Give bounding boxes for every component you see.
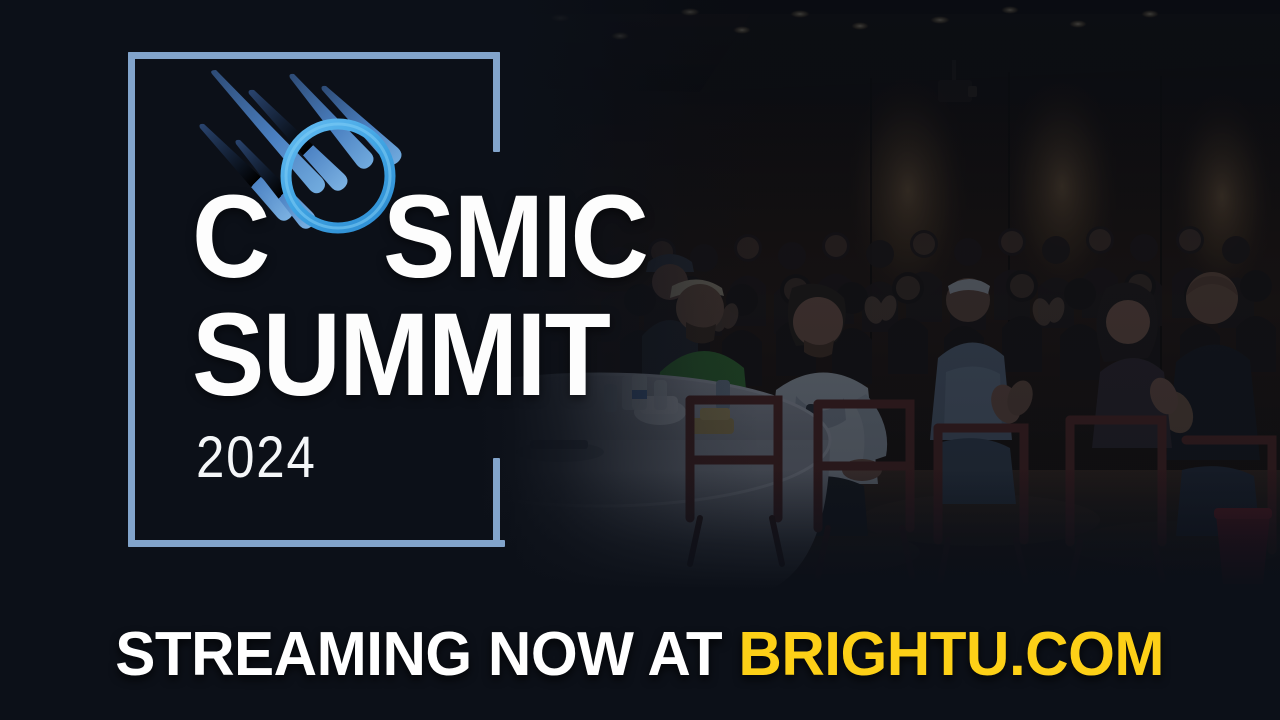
logo-letter-c: C — [192, 189, 269, 286]
tagline-lead: STREAMING NOW AT — [116, 620, 739, 689]
tagline-bar: STREAMING NOW AT BRIGHTU.COM — [0, 590, 1280, 720]
cosmic-summit-promo-banner: C SMIC SUMMIT 2024 STREAMING NOW AT BRIG… — [0, 0, 1280, 720]
cosmic-summit-wordmark: C SMIC SUMMIT 2024 — [118, 44, 678, 554]
streaming-tagline: STREAMING NOW AT BRIGHTU.COM — [116, 624, 1165, 686]
logo-year: 2024 — [196, 429, 317, 487]
logo-letters-smic: SMIC — [383, 189, 647, 286]
tagline-url: BRIGHTU.COM — [739, 620, 1165, 689]
logo-summit-line: SUMMIT — [192, 307, 609, 404]
cosmic-line: C SMIC — [192, 189, 670, 286]
